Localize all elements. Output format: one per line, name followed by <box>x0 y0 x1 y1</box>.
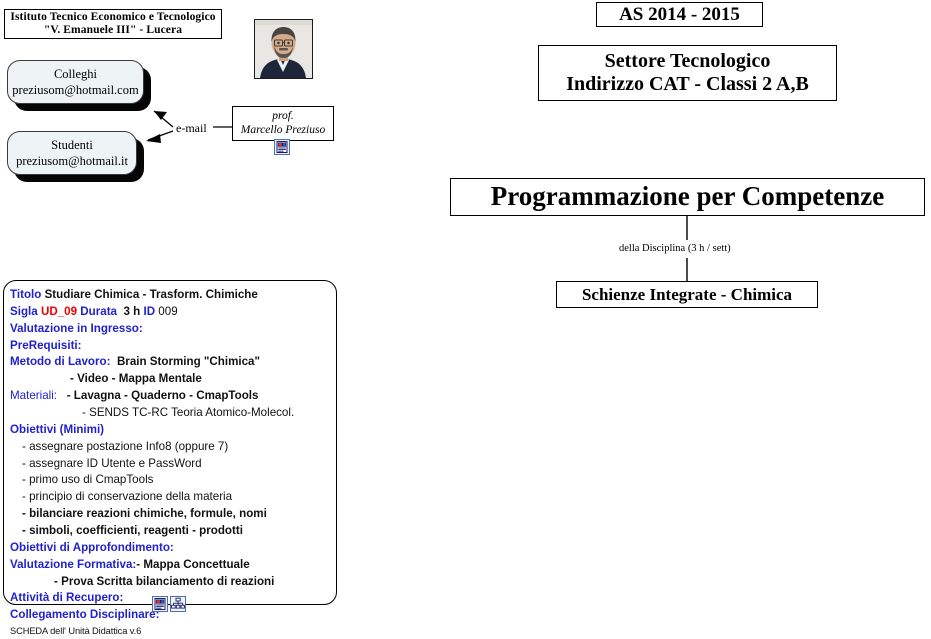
row-materiali: Materiali: - Lavagna - Quaderno - CmapTo… <box>10 388 336 405</box>
materiali-value: - Lavagna - Quaderno - CmapTools <box>67 389 259 402</box>
teacher-photo <box>254 19 313 79</box>
obiettivo-item: - assegnare ID Utente e PassWord <box>10 456 336 473</box>
row-obiettivi-approfondimento: Obiettivi di Approfondimento: <box>10 540 336 557</box>
row-materiali-2: - SENDS TC-RC Teoria Atomico-Molecol. <box>10 405 336 422</box>
contact-box-colleghi[interactable]: Colleghi preziusom@hotmail.com <box>7 60 144 104</box>
school-header-line1: Istituto Tecnico Economico e Tecnologico <box>10 11 215 23</box>
studenti-email: preziusom@hotmail.it <box>16 153 128 169</box>
edge-label-email: e-mail <box>176 121 207 136</box>
durata-value: 3 h <box>123 305 140 318</box>
school-header-line2: "V. Emanuele III" - Lucera <box>10 24 215 37</box>
valutazione-formativa-value: - Mappa Concettuale <box>136 558 249 571</box>
obiettivo-text: - primo uso di CmapTools <box>10 472 153 489</box>
document-icon-glyph <box>152 596 168 612</box>
disciplina-box[interactable]: Schienze Integrate - Chimica <box>556 281 818 308</box>
obiettivo-item: - simboli, coefficienti, reagenti - prod… <box>10 523 336 540</box>
row-obiettivi-minimi: Obiettivi (Minimi) <box>10 422 336 439</box>
resource-document-icon[interactable] <box>152 596 168 612</box>
prof-name: Marcello Preziuso <box>241 124 325 136</box>
row-metodo: Metodo di Lavoro: Brain Storming "Chimic… <box>10 354 336 371</box>
row-valutazione-formativa: Valutazione Formativa:- Mappa Concettual… <box>10 557 336 574</box>
settore-line2: Indirizzo CAT - Classi 2 A,B <box>566 73 809 96</box>
programmazione-title-box: Programmazione per Competenze <box>450 178 925 216</box>
row-metodo-2: - Video - Mappa Mentale <box>10 371 336 388</box>
titolo-label: Titolo <box>10 288 41 301</box>
id-label: ID <box>143 305 155 318</box>
studenti-title: Studenti <box>51 137 93 153</box>
row-titolo: Titolo Studiare Chimica - Trasform. Chim… <box>10 287 336 304</box>
card-icon-group <box>152 596 192 612</box>
sigla-value: UD_09 <box>41 305 77 318</box>
prof-box[interactable]: prof. Marcello Preziuso <box>232 106 334 141</box>
unita-didattica-card[interactable]: Titolo Studiare Chimica - Trasform. Chim… <box>3 280 337 605</box>
concept-map-icon-glyph <box>170 596 186 612</box>
sigla-label: Sigla <box>10 305 38 318</box>
valutazione-formativa-value2: - Prova Scritta bilanciamento di reazion… <box>54 575 274 588</box>
obiettivo-text: - simboli, coefficienti, reagenti - prod… <box>10 523 243 540</box>
id-value: 009 <box>158 305 177 318</box>
colleghi-title: Colleghi <box>54 66 97 82</box>
metodo-value: Brain Storming "Chimica" <box>117 355 260 368</box>
obiettivo-item: - principio di conservazione della mater… <box>10 489 336 506</box>
document-icon-glyph <box>274 139 290 155</box>
obiettivo-item: - bilanciare reazioni chimiche, formule,… <box>10 506 336 523</box>
valutazione-formativa-label: Valutazione Formativa: <box>10 558 136 571</box>
school-header-box: Istituto Tecnico Economico e Tecnologico… <box>4 9 222 39</box>
obiettivo-item: - primo uso di CmapTools <box>10 472 336 489</box>
settore-box: Settore Tecnologico Indirizzo CAT - Clas… <box>538 45 837 101</box>
durata-label: Durata <box>80 305 117 318</box>
resource-document-icon[interactable] <box>274 139 290 155</box>
metodo-label: Metodo di Lavoro: <box>10 355 110 368</box>
row-sigla: Sigla UD_09 Durata 3 h ID 009 <box>10 304 336 321</box>
settore-line1: Settore Tecnologico <box>605 50 771 73</box>
disciplina-link-label: della Disciplina (3 h / sett) <box>619 243 731 254</box>
portrait-illustration <box>255 20 312 78</box>
materiali-label: Materiali: <box>10 389 57 402</box>
prof-title: prof. <box>241 110 325 123</box>
obiettivo-item: - assegnare postazione Info8 (oppure 7) <box>10 439 336 456</box>
row-prerequisiti: PreRequisiti: <box>10 338 336 355</box>
row-valutazione-ingresso: Valutazione in Ingresso: <box>10 321 336 338</box>
obiettivo-text: - principio di conservazione della mater… <box>10 489 232 506</box>
obiettivo-text: - assegnare ID Utente e PassWord <box>10 456 202 473</box>
school-year-box: AS 2014 - 2015 <box>596 2 763 27</box>
titolo-value: Studiare Chimica - Trasform. Chimiche <box>45 288 258 301</box>
scheda-footer: SCHEDA dell' Unità Didattica v.6 <box>10 625 336 639</box>
obiettivo-text: - bilanciare reazioni chimiche, formule,… <box>10 506 267 523</box>
concept-map-icon[interactable] <box>170 596 186 612</box>
metodo-value2: - Video - Mappa Mentale <box>70 372 202 385</box>
row-valutazione-formativa-2: - Prova Scritta bilanciamento di reazion… <box>10 574 336 591</box>
materiali-value2: - SENDS TC-RC Teoria Atomico-Molecol. <box>82 406 294 419</box>
contact-box-studenti[interactable]: Studenti preziusom@hotmail.it <box>7 131 137 175</box>
obiettivo-text: - assegnare postazione Info8 (oppure 7) <box>10 439 228 456</box>
colleghi-email: preziusom@hotmail.com <box>12 82 138 98</box>
